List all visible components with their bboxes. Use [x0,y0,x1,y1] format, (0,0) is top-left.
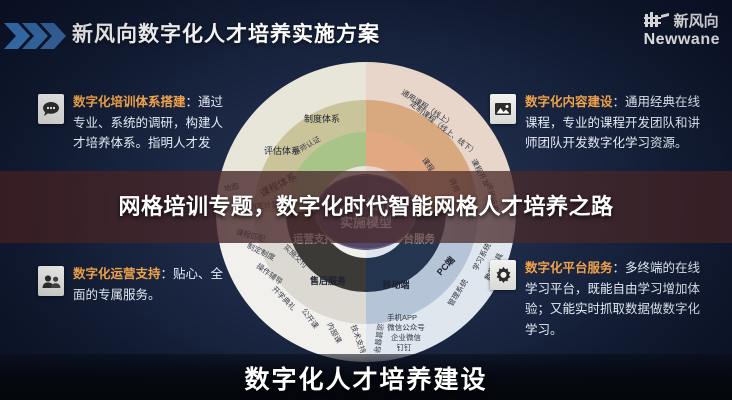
feature-text-bottom-left: 数字化运营支持：贴心、全面的专属服务。 [73,264,233,305]
feature-block-bottom-right: 数字化平台服务：多终端的在线学习平台，既能自由学习增加体验；又能实时抓取数据做数… [490,258,703,341]
feature-title: 数字化培训体系搭建 [73,95,186,109]
feature-text-top-right: 数字化内容建设：通用经典在线课程，专业的课程开发团队和讲师团队开发数字化学习资源… [525,92,703,154]
wheel-label-shouhoufuwu: 售后服务 [309,275,347,286]
feature-block-top-left: 数字化培训体系搭建：通过专业、系统的调研，构建人才培养体系。指明人才发 [38,92,233,154]
feature-sep: ： [186,95,199,109]
feature-text-bottom-right: 数字化平台服务：多终端的在线学习平台，既能自由学习增加体验；又能实时抓取数据做数… [525,258,703,341]
feature-block-bottom-left: 数字化运营支持：贴心、全面的专属服务。 [38,264,233,305]
feature-sep: ： [613,261,626,275]
speech-bubble-icon [38,94,64,124]
feature-sep: ： [161,267,174,281]
people-support-icon [38,266,64,296]
wheel-outer-label: 企业微信 [391,332,421,342]
newwane-mark-icon [644,12,670,29]
slide-header: 新风向数字化人才培养实施方案 新风向 Newwane [0,0,732,68]
wheel-label-yidongduan: 移动端 [382,279,409,290]
image-content-icon [490,94,516,124]
wheel-outer-label: 手机APP [387,312,417,322]
feature-title: 数字化平台服务 [525,261,613,275]
wheel-outer-label: 微信公众号 [387,322,425,332]
bottom-caption: 数字化人才培养建设 [0,360,732,396]
brand-logo: 新风向 Newwane [644,10,720,49]
logo-en-text: Newwane [644,32,720,49]
gear-icon [490,260,516,290]
overlay-caption: 网格培训专题，数字化时代智能网格人才培养之路 [0,171,732,243]
wheel-outer-label: 钉钉 [397,342,412,352]
logo-cn-text: 新风向 [674,10,719,31]
feature-sep: ： [613,95,626,109]
feature-title: 数字化内容建设 [525,95,613,109]
feature-text-top-left: 数字化培训体系搭建：通过专业、系统的调研，构建人才培养体系。指明人才发 [73,92,233,154]
wheel-label-zhidutixi: 制度体系 [304,113,340,124]
chevrons-right-icon [4,21,66,51]
page-title: 新风向数字化人才培养实施方案 [72,18,380,48]
slide-canvas: 新风向数字化人才培养实施方案 新风向 Newwane [0,0,732,400]
feature-title: 数字化运营支持 [73,267,161,281]
feature-block-top-right: 数字化内容建设：通用经典在线课程，专业的课程开发团队和讲师团队开发数字化学习资源… [490,92,703,154]
